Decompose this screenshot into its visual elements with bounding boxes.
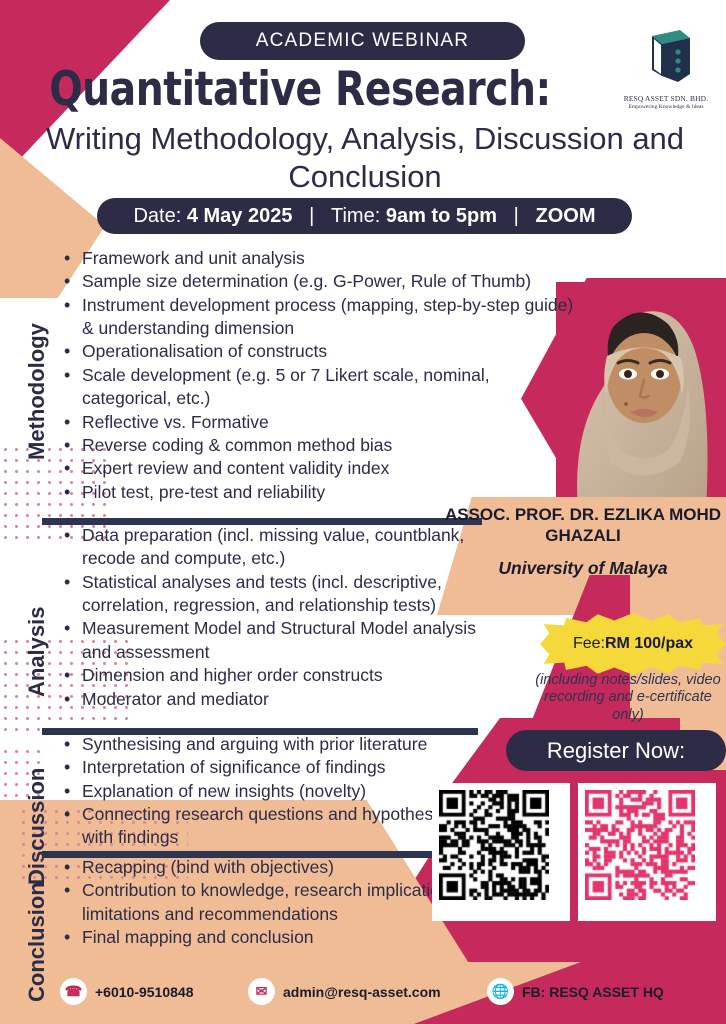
list-item: Statistical analyses and tests (incl. de…: [82, 571, 492, 618]
qr-black-canvas[interactable]: [439, 790, 549, 900]
list-item: Sample size determination (e.g. G-Power,…: [82, 270, 582, 293]
list-item: Expert review and content validity index: [82, 457, 582, 480]
analysis-list: Data preparation (incl. missing value, c…: [62, 524, 492, 711]
resq-cube-icon: [638, 26, 694, 86]
email-address: admin@resq-asset.com: [283, 984, 441, 1000]
fee-text: Fee: RM 100/pax: [540, 613, 726, 675]
fee-amount: RM 100/pax: [605, 635, 693, 653]
envelope-icon: ✉: [248, 978, 275, 1005]
list-item: Connecting research questions and hypoth…: [82, 803, 482, 850]
date-label: Date:: [133, 205, 186, 228]
company-logo: RESQ ASSET SDN. BHD. Empowering Knowledg…: [612, 26, 720, 110]
list-item: Explanation of new insights (novelty): [82, 780, 482, 803]
separator-2: |: [497, 205, 536, 228]
date-value: 4 May 2025: [187, 205, 293, 228]
platform-value: ZOOM: [536, 205, 596, 228]
list-item: Interpretation of significance of findin…: [82, 756, 482, 779]
list-item: Scale development (e.g. 5 or 7 Likert sc…: [82, 364, 582, 411]
conclusion-list: Recapping (bind with objectives) Contrib…: [62, 856, 492, 949]
section-label-discussion: Discussion: [24, 768, 50, 885]
contact-email[interactable]: ✉ admin@resq-asset.com: [248, 978, 441, 1005]
phone-number: +6010-9510848: [95, 984, 194, 1000]
contact-facebook[interactable]: 🌐 FB: RESQ ASSET HQ: [487, 978, 664, 1005]
globe-icon: 🌐: [487, 978, 514, 1005]
separator-1: |: [292, 205, 331, 228]
academic-webinar-badge: ACADEMIC WEBINAR: [200, 22, 525, 60]
logo-tagline: Empowering Knowledge & Ideas: [612, 104, 720, 110]
event-details-bar: Date: 4 May 2025 | Time: 9am to 5pm | ZO…: [97, 198, 632, 234]
section-label-methodology: Methodology: [24, 323, 50, 460]
phone-icon: ☎: [60, 978, 87, 1005]
list-item: Pilot test, pre-test and reliability: [82, 481, 582, 504]
section-label-analysis: Analysis: [24, 607, 50, 698]
speaker-affiliation: University of Malaya: [440, 558, 726, 579]
logo-company-name: RESQ ASSET SDN. BHD.: [612, 94, 720, 103]
list-item: Final mapping and conclusion: [82, 926, 492, 949]
fee-note: (including notes/slides, video recording…: [530, 672, 726, 724]
time-label: Time:: [331, 205, 386, 228]
webinar-poster: ACADEMIC WEBINAR Quantitative Research: …: [0, 0, 726, 1024]
qr-code-pink[interactable]: [578, 783, 716, 921]
list-item: Moderator and mediator: [82, 688, 492, 711]
speaker-name: ASSOC. PROF. DR. EZLIKA MOHD GHAZALI: [440, 504, 726, 546]
list-item: Dimension and higher order constructs: [82, 664, 492, 687]
list-item: Contribution to knowledge, research impl…: [82, 879, 492, 926]
fee-badge: Fee: RM 100/pax: [540, 613, 726, 675]
methodology-list: Framework and unit analysis Sample size …: [62, 247, 582, 504]
list-item: Reverse coding & common method bias: [82, 434, 582, 457]
section-label-conclusion: Conclusion: [24, 882, 50, 1002]
list-item: Data preparation (incl. missing value, c…: [82, 524, 492, 571]
qr-code-black[interactable]: [432, 783, 570, 921]
register-now-button[interactable]: Register Now:: [506, 730, 726, 771]
facebook-handle: FB: RESQ ASSET HQ: [522, 984, 664, 1000]
list-item: Framework and unit analysis: [82, 247, 582, 270]
page-subtitle: Writing Methodology, Analysis, Discussio…: [20, 120, 710, 196]
time-value: 9am to 5pm: [386, 205, 497, 228]
qr-pink-canvas[interactable]: [585, 790, 695, 900]
list-item: Operationalisation of constructs: [82, 340, 582, 363]
list-item: Synthesising and arguing with prior lite…: [82, 733, 482, 756]
page-title: Quantitative Research:: [21, 62, 579, 117]
contact-phone[interactable]: ☎ +6010-9510848: [60, 978, 194, 1005]
list-item: Instrument development process (mapping,…: [82, 294, 582, 341]
fee-label: Fee:: [573, 635, 605, 653]
discussion-list: Synthesising and arguing with prior lite…: [62, 733, 482, 850]
list-item: Measurement Model and Structural Model a…: [82, 617, 492, 664]
list-item: Recapping (bind with objectives): [82, 856, 492, 879]
list-item: Reflective vs. Formative: [82, 411, 582, 434]
